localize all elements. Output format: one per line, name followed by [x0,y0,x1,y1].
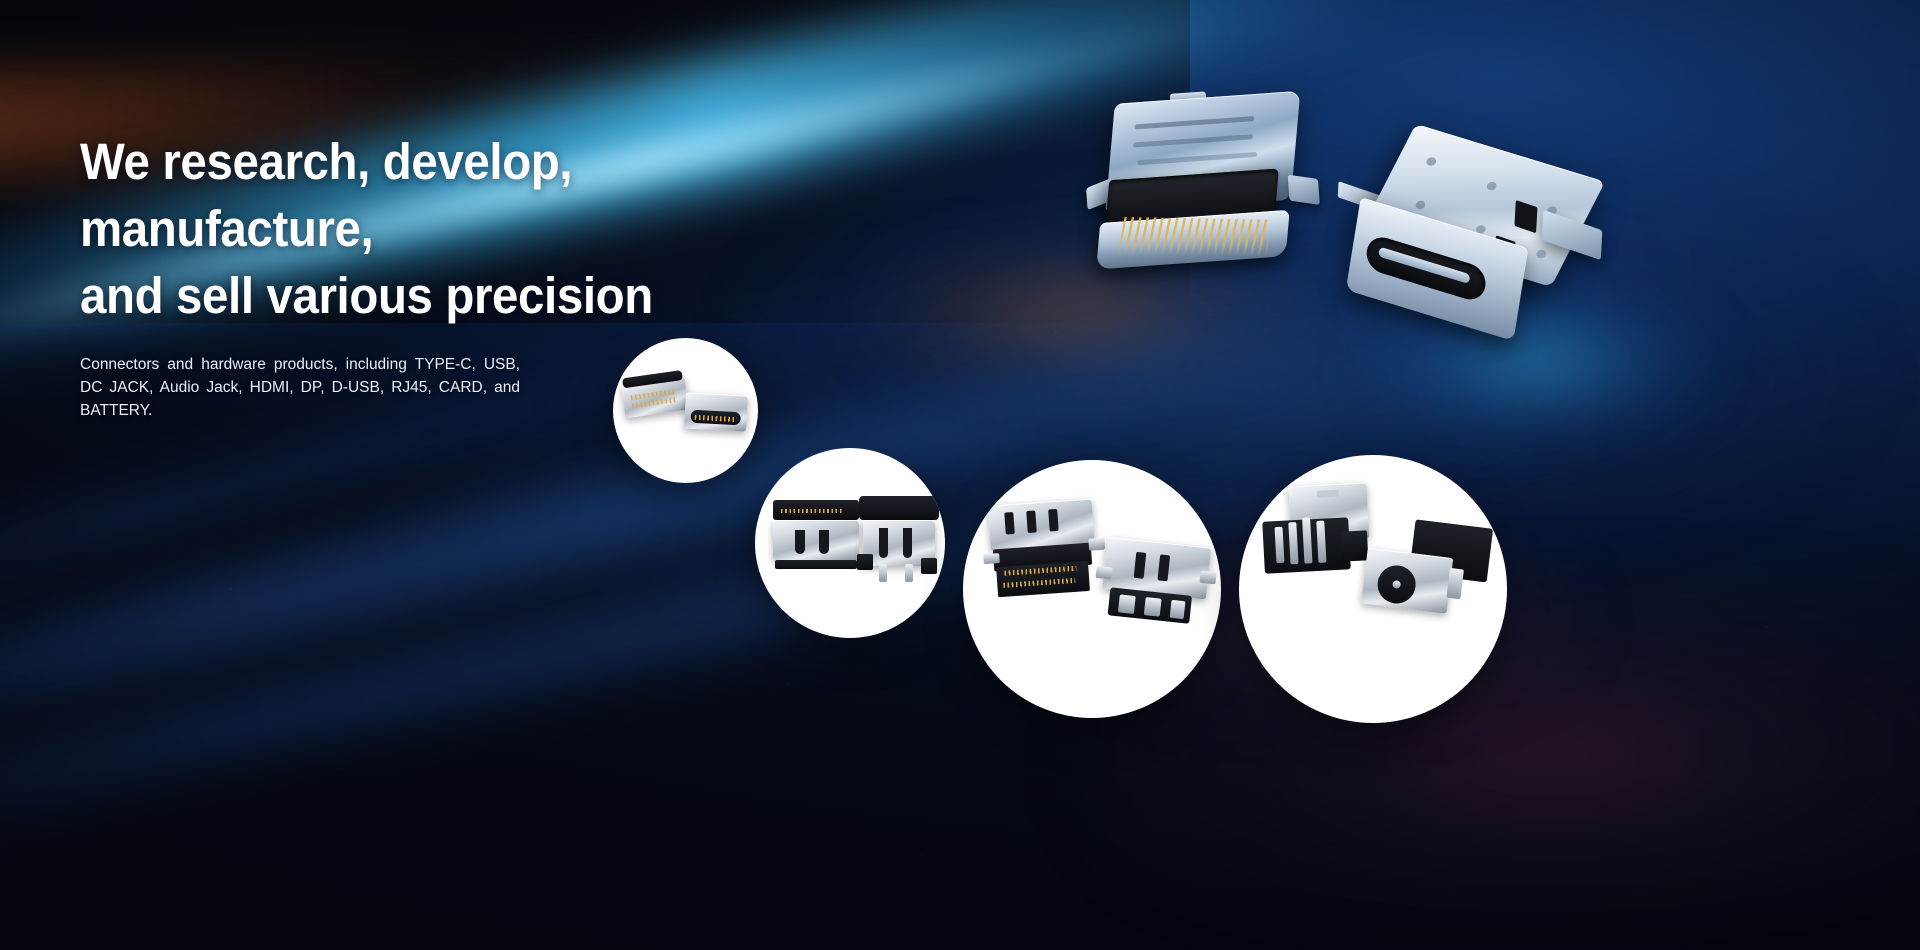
contact-slot-1 [879,528,888,558]
black-top [859,496,939,520]
contact-slot-2 [819,530,829,554]
hero-product-usb-c-upright [1074,80,1327,286]
shell-slot-2 [1026,510,1037,533]
black-block-right [1341,530,1369,561]
contact-slot-2 [903,528,912,558]
metal-body [773,520,859,560]
tab-right [1088,538,1105,551]
tab-left [983,553,1000,564]
dp-connector-left [773,500,859,568]
leg-left [879,564,887,582]
banner-subtext: Connectors and hardware products, includ… [80,353,520,422]
page-title: We research, develop, manufacture, and s… [80,128,657,329]
mount-post-left [857,554,873,570]
port-divider-1 [1118,594,1136,614]
product-bubble-dp[interactable] [755,448,945,638]
port-divider-3 [1170,600,1186,619]
shell-slot-3 [1048,509,1059,532]
contact-slot-1 [795,530,805,554]
side-tab [1446,568,1464,599]
hdmi-connector-left [988,498,1098,601]
solder-tab-right [1288,175,1320,205]
shell-notch [1317,490,1339,498]
banner-copy: We research, develop, manufacture, and s… [80,128,700,422]
leg-right [905,564,913,582]
gold-pin-row [1117,217,1272,260]
mount-post-right [921,558,937,574]
shell-slot-1 [1004,512,1015,535]
port-divider-2 [1144,597,1162,617]
product-bubble-hdmi[interactable] [963,460,1221,718]
hdmi-connector-right [1099,537,1211,633]
hero-product-usb-c-flat [1340,138,1611,366]
gold-pins [781,509,843,513]
tab-right [1199,571,1216,585]
dc-jack-connector-left [1260,482,1371,587]
black-base [775,560,857,569]
tab-left [1095,566,1112,580]
hero-banner: We research, develop, manufacture, and s… [0,0,1920,950]
dc-jack-connector-right [1359,514,1493,636]
dp-connector-right [863,496,935,582]
product-bubble-dc-jack[interactable] [1239,455,1507,723]
